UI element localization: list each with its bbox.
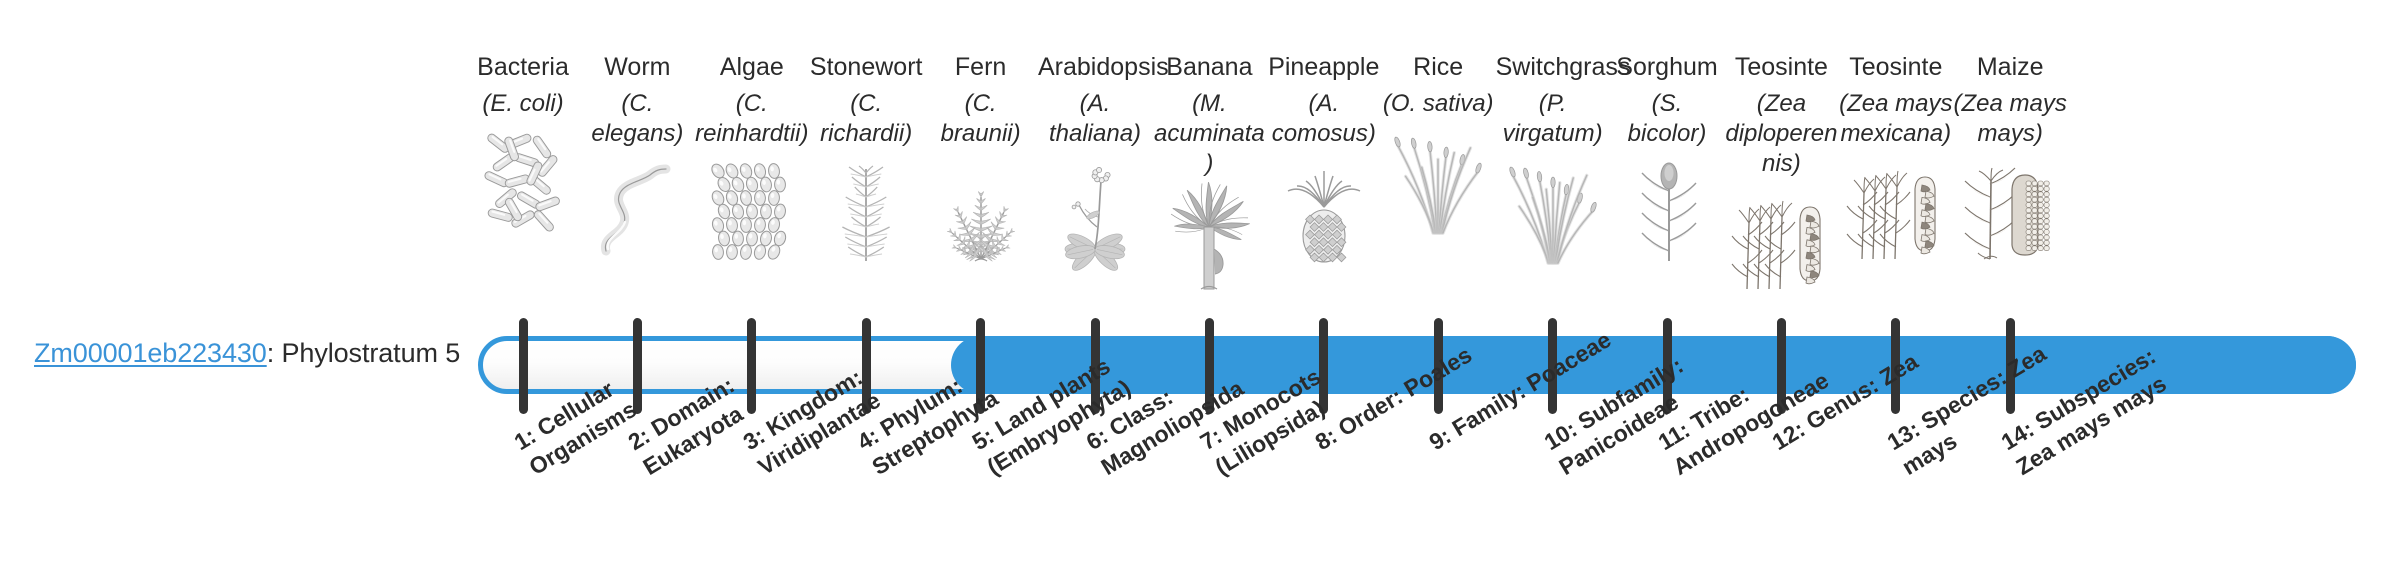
species-header-row: Bacteria(E. coli) bbox=[0, 0, 2400, 320]
stratum-tick bbox=[519, 318, 528, 414]
species-scientific-name: (Zea mays mexicana) bbox=[1839, 89, 1953, 149]
rice-plant-icon bbox=[1381, 125, 1495, 233]
pineapple-icon bbox=[1267, 155, 1381, 263]
species-column: Switchgrass(P. virgatum) bbox=[1496, 52, 1610, 263]
species-common-name: Arabidopsis bbox=[1038, 52, 1152, 83]
maize-plant-cob-icon bbox=[1953, 155, 2067, 263]
species-column: Pineapple(A. comosus) bbox=[1267, 52, 1381, 263]
algae-cells-icon bbox=[695, 155, 809, 263]
species-common-name: Stonewort bbox=[809, 52, 923, 83]
species-scientific-name: (A. comosus) bbox=[1267, 89, 1381, 149]
species-scientific-name: (C. braunii) bbox=[924, 89, 1038, 149]
species-scientific-name: (C. reinhardtii) bbox=[695, 89, 809, 149]
gene-phylostratum-label: Zm00001eb223430: Phylostratum 5 bbox=[34, 337, 460, 369]
species-common-name: Rice bbox=[1381, 52, 1495, 83]
species-scientific-name: (S. bicolor) bbox=[1610, 89, 1724, 149]
species-column: Arabidopsis(A. thaliana) bbox=[1038, 52, 1152, 263]
species-column: Bacteria(E. coli) bbox=[466, 52, 580, 233]
species-common-name: Maize bbox=[1953, 52, 2067, 83]
phylostratum-figure: Zm00001eb223430: Phylostratum 5 Bacteria… bbox=[0, 0, 2400, 580]
species-column: Stonewort(C. richardii) bbox=[809, 52, 923, 263]
species-common-name: Fern bbox=[924, 52, 1038, 83]
banana-plant-icon bbox=[1152, 185, 1266, 293]
species-column: Fern(C. braunii) bbox=[924, 52, 1038, 263]
species-column: Algae(C. reinhardtii) bbox=[695, 52, 809, 263]
species-scientific-name: (C. elegans) bbox=[580, 89, 694, 149]
species-scientific-name: (Zea mays mays) bbox=[1953, 89, 2067, 149]
teosinte-plant-ear-icon bbox=[1839, 155, 1953, 263]
species-column: Teosinte(Zea mays mexicana) bbox=[1839, 52, 1953, 263]
species-common-name: Banana bbox=[1152, 52, 1266, 83]
species-scientific-name: (M. acuminata) bbox=[1152, 89, 1266, 179]
species-column: Worm(C. elegans) bbox=[580, 52, 694, 263]
nematode-worm-icon bbox=[580, 155, 694, 263]
switchgrass-icon bbox=[1496, 155, 1610, 263]
species-scientific-name: (A. thaliana) bbox=[1038, 89, 1152, 149]
species-common-name: Teosinte bbox=[1724, 52, 1838, 83]
species-common-name: Bacteria bbox=[466, 52, 580, 83]
species-common-name: Worm bbox=[580, 52, 694, 83]
species-common-name: Sorghum bbox=[1610, 52, 1724, 83]
species-scientific-name: (Zea diploperennis) bbox=[1724, 89, 1838, 179]
teosinte-plant-ear-icon bbox=[1724, 185, 1838, 293]
species-column: Sorghum(S. bicolor) bbox=[1610, 52, 1724, 263]
species-common-name: Switchgrass bbox=[1496, 52, 1610, 83]
species-column: Banana(M. acuminata) bbox=[1152, 52, 1266, 293]
phylostratum-value-text: Phylostratum 5 bbox=[282, 338, 461, 368]
species-column: Rice(O. sativa) bbox=[1381, 52, 1495, 233]
species-scientific-name: (E. coli) bbox=[466, 89, 580, 119]
bacteria-rods-icon bbox=[466, 125, 580, 233]
species-scientific-name: (O. sativa) bbox=[1381, 89, 1495, 119]
gene-id-link[interactable]: Zm00001eb223430 bbox=[34, 338, 267, 368]
sorghum-icon bbox=[1610, 155, 1724, 263]
species-scientific-name: (P. virgatum) bbox=[1496, 89, 1610, 149]
species-column: Maize(Zea mays mays) bbox=[1953, 52, 2067, 263]
species-common-name: Teosinte bbox=[1839, 52, 1953, 83]
fern-icon bbox=[924, 155, 1038, 263]
stonewort-alga-icon bbox=[809, 155, 923, 263]
species-scientific-name: (C. richardii) bbox=[809, 89, 923, 149]
species-column: Teosinte(Zea diploperennis) bbox=[1724, 52, 1838, 293]
arabidopsis-icon bbox=[1038, 155, 1152, 263]
species-common-name: Pineapple bbox=[1267, 52, 1381, 83]
species-common-name: Algae bbox=[695, 52, 809, 83]
gene-label-separator: : bbox=[267, 338, 282, 368]
